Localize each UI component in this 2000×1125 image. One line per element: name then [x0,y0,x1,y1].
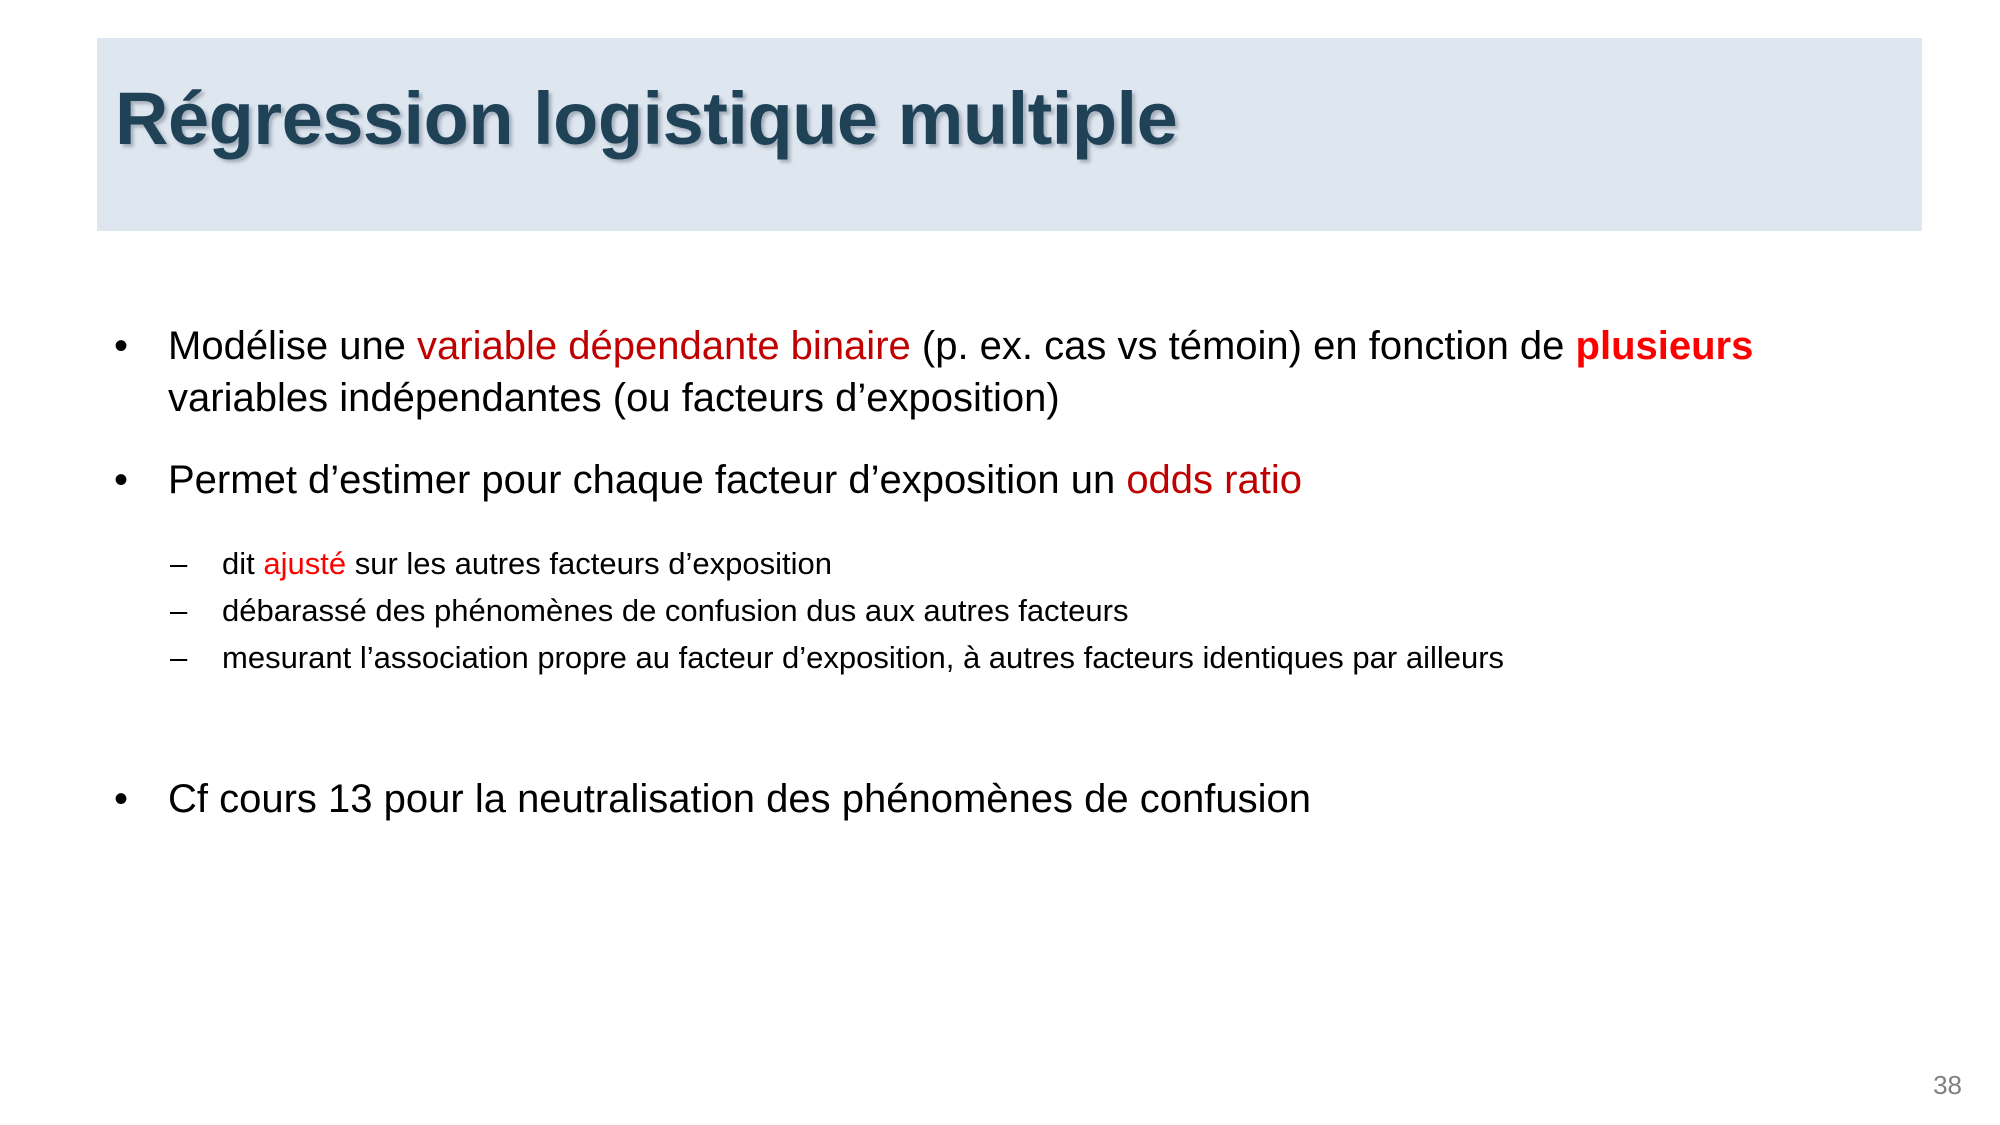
text-run: variable dépendante binaire [417,324,911,368]
bullet-item: •Permet d’estimer pour chaque facteur d’… [100,454,1900,506]
bullet-text: débarassé des phénomènes de confusion du… [222,593,1128,628]
dash-marker-icon: – [170,540,187,587]
bullet-item: •Cf cours 13 pour la neutralisation des … [100,773,1900,825]
slide-body: •Modélise une variable dépendante binair… [100,320,1900,855]
text-run: ajusté [263,546,346,581]
sub-bullet-item: –mesurant l’association propre au facteu… [100,634,1900,681]
text-run: plusieurs [1576,324,1754,368]
bullet-marker-icon: • [114,773,128,825]
text-run: (p. ex. cas vs témoin) en fonction de [911,324,1576,368]
text-run: odds ratio [1126,458,1302,502]
sub-bullet-group: –dit ajusté sur les autres facteurs d’ex… [100,540,1900,681]
bullet-item: •Modélise une variable dépendante binair… [100,320,1900,424]
bullet-text: dit ajusté sur les autres facteurs d’exp… [222,546,832,581]
bullet-text: Modélise une variable dépendante binaire… [168,324,1753,420]
text-run: sur les autres facteurs d’exposition [346,546,832,581]
sub-bullet-item: –débarassé des phénomènes de confusion d… [100,587,1900,634]
bullet-text: Permet d’estimer pour chaque facteur d’e… [168,458,1302,502]
page-title: Régression logistique multiple [115,76,1177,161]
text-run: dit [222,546,263,581]
dash-marker-icon: – [170,634,187,681]
bullet-text: mesurant l’association propre au facteur… [222,640,1504,675]
text-run: Cf cours 13 pour la neutralisation des p… [168,777,1311,821]
slide: Régression logistique multiple •Modélise… [0,0,2000,1125]
text-run: débarassé des phénomènes de confusion du… [222,593,1128,628]
page-number: 38 [1933,1070,1962,1101]
blank-line [100,719,1900,773]
text-run: Permet d’estimer pour chaque facteur d’e… [168,458,1126,502]
bullet-marker-icon: • [114,454,128,506]
bullet-text: Cf cours 13 pour la neutralisation des p… [168,777,1311,821]
dash-marker-icon: – [170,587,187,634]
text-run: variables indépendantes (ou facteurs d’e… [168,376,1060,420]
text-run: Modélise une [168,324,417,368]
sub-bullet-item: –dit ajusté sur les autres facteurs d’ex… [100,540,1900,587]
bullet-marker-icon: • [114,320,128,372]
text-run: mesurant l’association propre au facteur… [222,640,1504,675]
